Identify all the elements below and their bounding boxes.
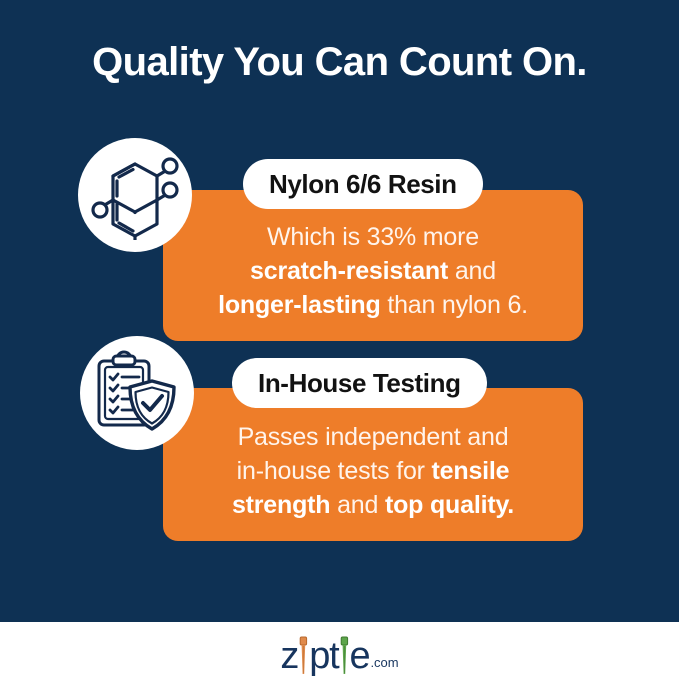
feature-card-nylon: Which is 33% morescratch-resistant andlo… [163,190,583,341]
logo-letter-t: t [329,637,338,675]
logo-tld-suffix: .com [370,656,398,669]
clipboard-shield-icon [94,350,180,436]
feature-body-line: Passes independent and [185,420,561,454]
logo-letter-e: e [350,637,370,675]
logo-wordmark: z p t e .c [280,630,398,668]
brand-logo: z p t e .c [0,630,679,668]
clipboard-shield-icon-badge [80,336,194,450]
molecule-atom-node [163,183,177,197]
feature-body-line: strength and top quality. [185,488,561,522]
feature-card-body: Which is 33% morescratch-resistant andlo… [185,220,561,322]
zip-tie-green-icon [339,630,350,668]
logo-band: z p t e .c [0,622,679,673]
feature-title-pill-testing: In-House Testing [232,358,487,408]
feature-title-pill-nylon: Nylon 6/6 Resin [243,159,483,209]
logo-letter-z: z [280,637,298,675]
feature-card-testing: Passes independent and in-house tests fo… [163,388,583,541]
molecule-atom-node [93,203,107,217]
feature-body-line: longer-lasting than nylon 6. [185,288,561,322]
molecule-atom-node [163,159,177,173]
logo-letter-p: p [309,637,329,675]
feature-body-line: scratch-resistant and [185,254,561,288]
poster-canvas: Quality You Can Count On. Which is 33% m… [0,0,679,673]
zip-tie-orange-icon [298,630,309,668]
page-title: Quality You Can Count On. [0,40,679,84]
molecule-icon-badge [78,138,192,252]
feature-card-body: Passes independent and in-house tests fo… [185,420,561,522]
molecule-icon [91,150,179,240]
feature-body-line: Which is 33% more [185,220,561,254]
feature-body-line: in-house tests for tensile [185,454,561,488]
